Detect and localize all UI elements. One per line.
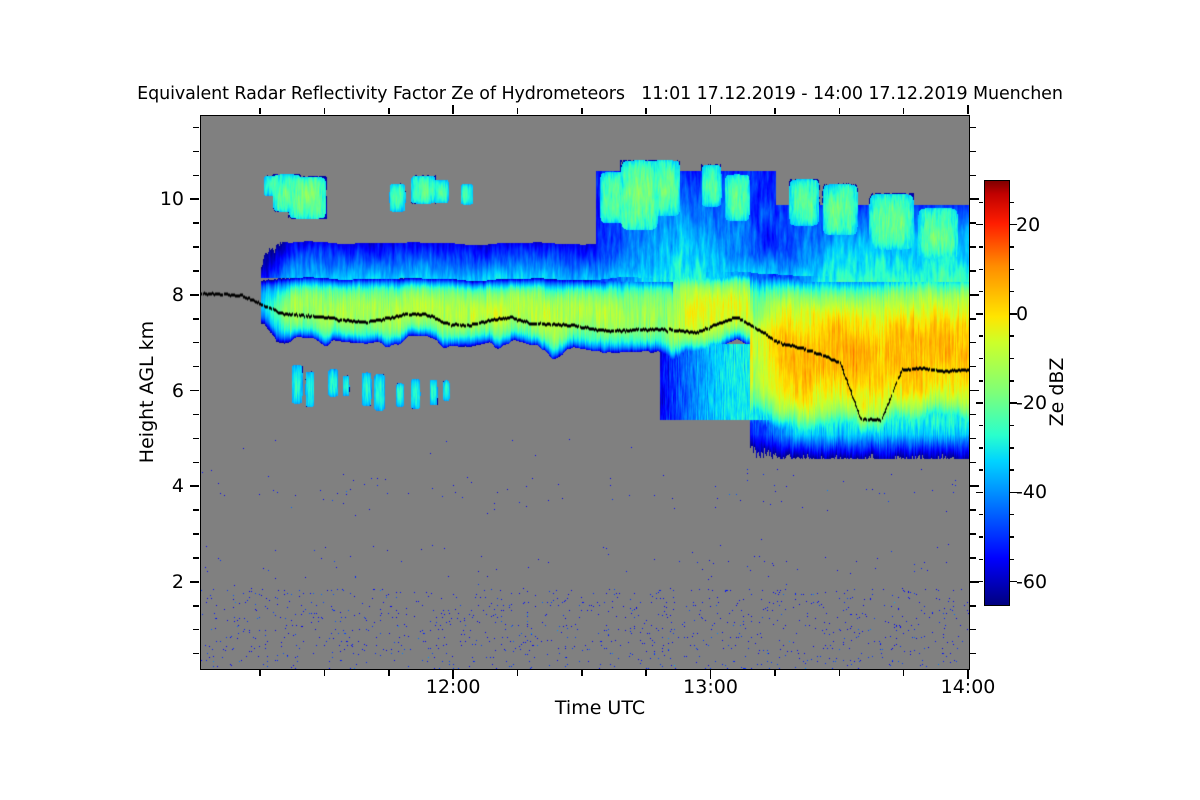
colorbar-tick-label: -60 — [1016, 571, 1047, 593]
radar-reflectivity-figure: Equivalent Radar Reflectivity Factor Ze … — [0, 0, 1200, 800]
axis-tick — [839, 670, 841, 676]
colorbar-tick-label: 0 — [1016, 303, 1028, 325]
axis-tick — [324, 670, 326, 676]
axis-tick — [324, 108, 326, 114]
axis-tick — [259, 670, 261, 676]
axis-tick — [452, 105, 454, 114]
axis-tick — [581, 670, 583, 676]
axis-tick — [517, 670, 519, 676]
axis-tick — [967, 105, 969, 114]
axis-tick — [774, 108, 776, 114]
x-tick-label: 14:00 — [941, 676, 996, 698]
x-tick-label: 12:00 — [426, 676, 481, 698]
axis-tick — [645, 108, 647, 114]
colorbar-label: Ze dBZ — [1046, 358, 1068, 427]
x-tick-label: 13:00 — [683, 676, 738, 698]
axis-tick — [774, 670, 776, 676]
axis-tick — [388, 108, 390, 114]
figure-title: Equivalent Radar Reflectivity Factor Ze … — [0, 84, 1200, 104]
axis-tick — [581, 108, 583, 114]
axis-tick — [259, 108, 261, 114]
x-axis-label: Time UTC — [0, 697, 1200, 719]
colorbar-tick-label: 20 — [1016, 214, 1040, 236]
axis-tick — [903, 670, 905, 676]
axis-tick — [710, 105, 712, 114]
axis-tick — [388, 670, 390, 676]
axis-tick — [839, 108, 841, 114]
axis-tick — [517, 108, 519, 114]
colorbar-tick-label: -40 — [1016, 481, 1047, 503]
axis-tick — [903, 108, 905, 114]
colorbar-tick-labels: -60-40-20020 — [0, 180, 1200, 604]
colorbar-tick-label: -20 — [1016, 392, 1047, 414]
axis-tick — [645, 670, 647, 676]
